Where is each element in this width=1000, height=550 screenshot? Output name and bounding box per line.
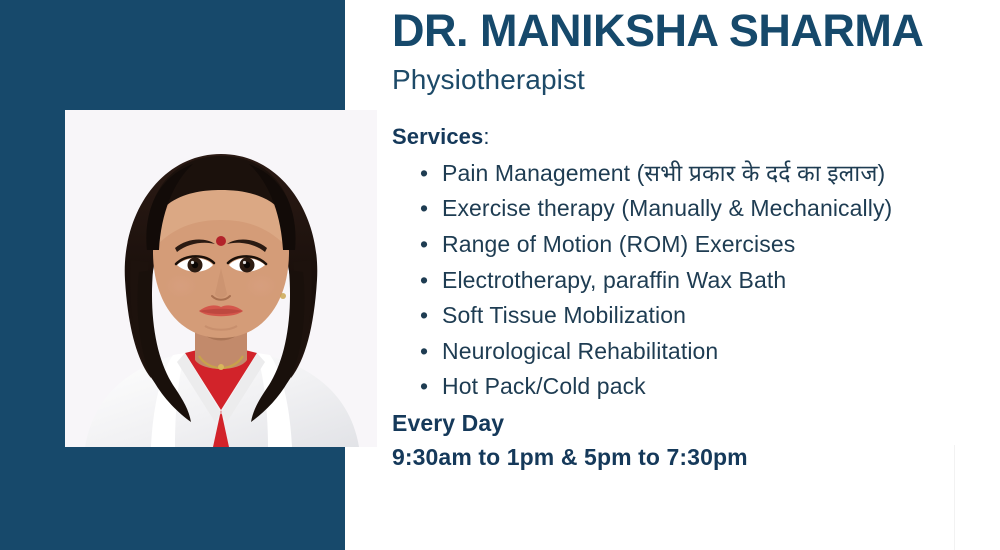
doctor-portrait-photo: [65, 110, 377, 447]
list-item: • Electrotherapy, paraffin Wax Bath: [442, 263, 992, 299]
list-item-label: Range of Motion (ROM) Exercises: [442, 231, 795, 257]
list-item: • Soft Tissue Mobilization: [442, 298, 992, 334]
list-item: • Range of Motion (ROM) Exercises: [442, 227, 992, 263]
list-item-label: Neurological Rehabilitation: [442, 338, 718, 364]
doctor-role: Physiotherapist: [392, 54, 992, 96]
list-item: • Exercise therapy (Manually & Mechanica…: [442, 191, 992, 227]
list-item: • Pain Management (सभी प्रकार के दर्द का…: [442, 156, 992, 192]
page-title: DR. MANIKSHA SHARMA: [392, 0, 992, 54]
portrait-illustration: [65, 110, 377, 447]
services-heading: Services:: [392, 96, 992, 150]
doctor-profile-card: DR. MANIKSHA SHARMA Physiotherapist Serv…: [0, 0, 1000, 550]
services-heading-label: Services: [392, 124, 483, 149]
services-heading-colon: :: [483, 124, 489, 149]
clinic-hours: Every Day 9:30am to 1pm & 5pm to 7:30pm: [392, 405, 992, 471]
bullet-icon: •: [420, 227, 428, 263]
services-list: • Pain Management (सभी प्रकार के दर्द का…: [392, 150, 992, 405]
list-item-label: Electrotherapy, paraffin Wax Bath: [442, 267, 786, 293]
bullet-icon: •: [420, 298, 428, 334]
clinic-hours-days: Every Day: [392, 410, 992, 437]
decorative-blue-block-bottom: [0, 447, 345, 550]
profile-text-column: DR. MANIKSHA SHARMA Physiotherapist Serv…: [392, 0, 992, 550]
list-item-label: Exercise therapy (Manually & Mechanicall…: [442, 195, 892, 221]
list-item-label: Hot Pack/Cold pack: [442, 373, 646, 399]
decorative-blue-block-top: [0, 0, 345, 113]
bullet-icon: •: [420, 334, 428, 370]
bullet-icon: •: [420, 191, 428, 227]
list-item: • Hot Pack/Cold pack: [442, 369, 992, 405]
bullet-icon: •: [420, 263, 428, 299]
list-item: • Neurological Rehabilitation: [442, 334, 992, 370]
decorative-blue-block-left: [0, 110, 66, 450]
bullet-icon: •: [420, 156, 428, 192]
list-item-label: Soft Tissue Mobilization: [442, 302, 686, 328]
list-item-label: Pain Management (सभी प्रकार के दर्द का इ…: [442, 160, 885, 186]
edge-divider: [954, 445, 955, 550]
bullet-icon: •: [420, 369, 428, 405]
clinic-hours-time: 9:30am to 1pm & 5pm to 7:30pm: [392, 437, 992, 471]
